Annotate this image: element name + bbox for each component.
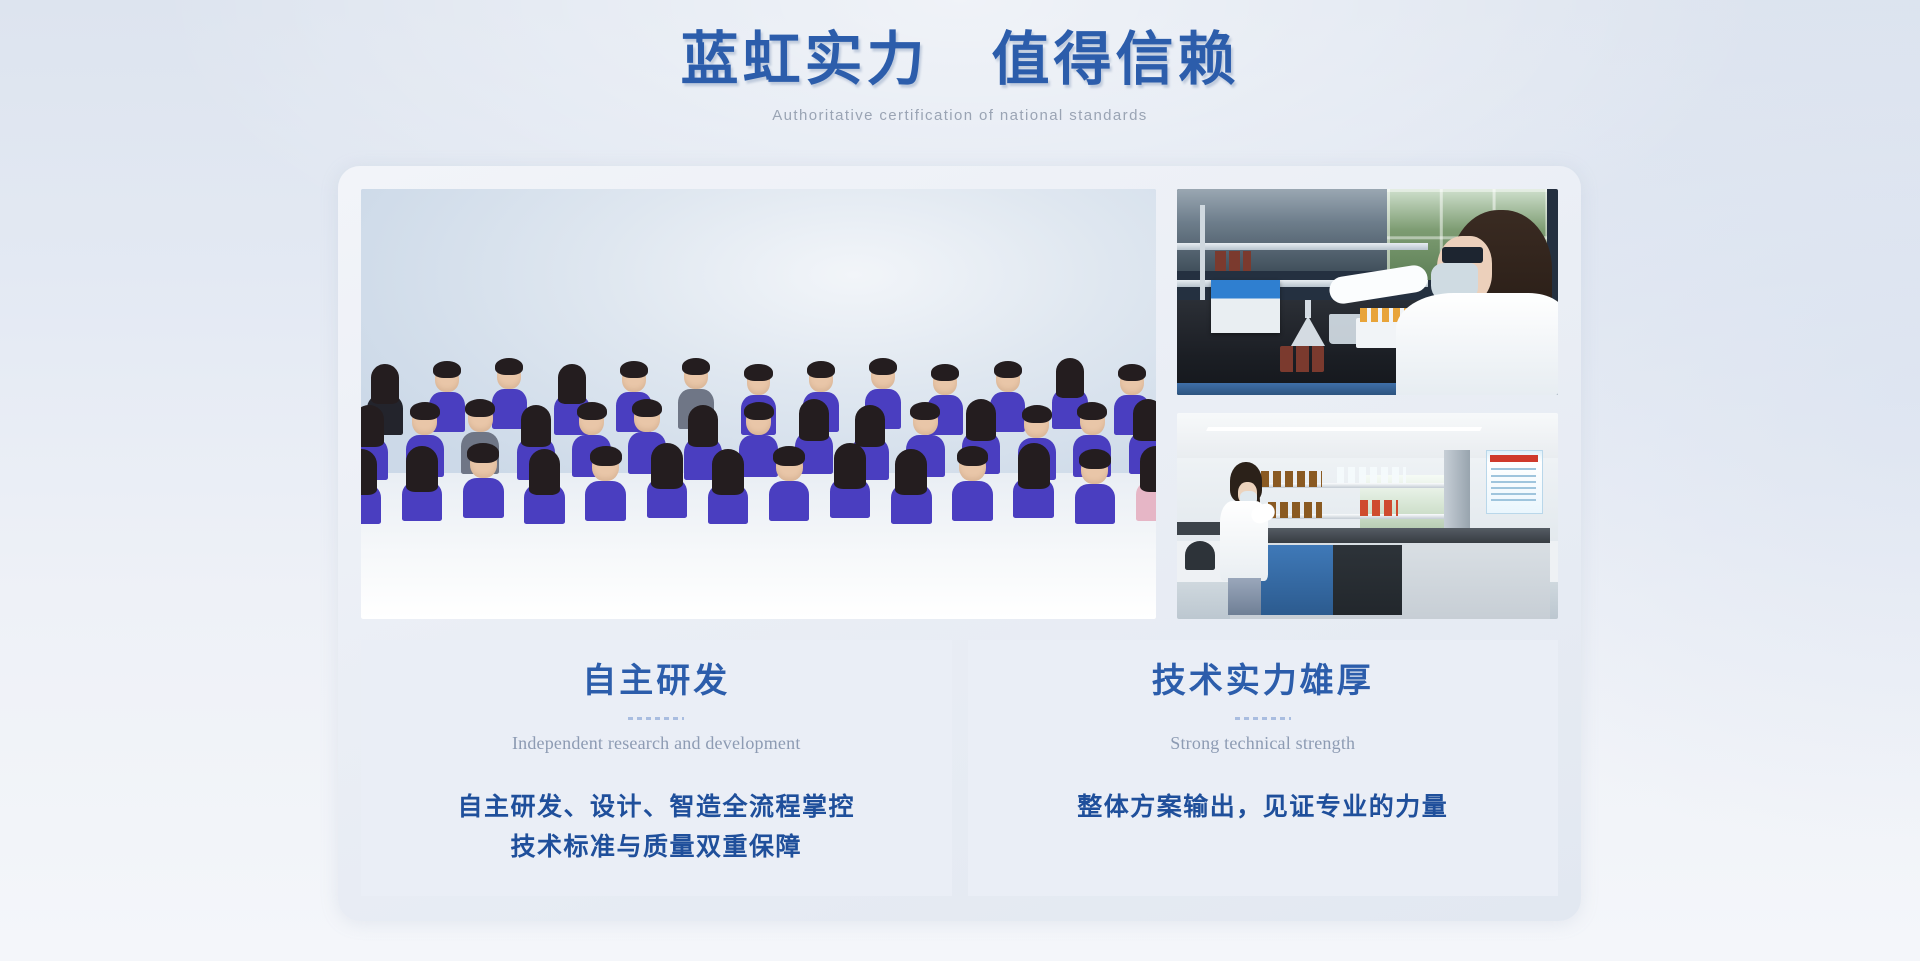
person-hair (632, 399, 662, 417)
person-hair (467, 443, 499, 462)
person-hair (521, 405, 551, 448)
person-hair (966, 399, 996, 442)
person-head (468, 403, 493, 431)
poster-text-line (1491, 493, 1536, 495)
person-head (435, 365, 459, 392)
person-head (857, 409, 882, 437)
person-uniform (463, 478, 504, 518)
card-subtitle: Independent research and development (381, 733, 932, 754)
person-head (837, 448, 864, 478)
lab-reagent-bottles-lower (1280, 346, 1324, 372)
person-hair (410, 402, 440, 420)
poster-header-bar (1490, 455, 1539, 462)
reagent-bottles-red (1360, 500, 1398, 516)
person-hair (869, 358, 897, 375)
person-hair (744, 364, 772, 381)
card-subtitle: Strong technical strength (988, 733, 1539, 754)
person-head (373, 368, 397, 395)
safety-notice-poster (1486, 450, 1543, 514)
pipette-rack-icon (1211, 280, 1280, 334)
person-hair (688, 405, 718, 448)
group-photo-person (1058, 362, 1082, 429)
card-title: 技术实力雄厚 (988, 662, 1539, 703)
group-photo-person (898, 454, 925, 524)
person-hair (855, 405, 885, 448)
worker-legs (1228, 578, 1261, 615)
page-title-part-2: 值得信赖 (992, 27, 1240, 92)
group-photo-person (435, 365, 459, 432)
person-head (412, 406, 437, 434)
group-photo-person (959, 451, 986, 521)
lab-coat (1396, 293, 1558, 395)
page-title: 蓝虹实力 值得信赖 (0, 24, 1920, 97)
person-head (470, 448, 497, 478)
person-head (1024, 409, 1049, 437)
feature-card-technical-strength[interactable]: 技术实力雄厚 Strong technical strength 整体方案输出，… (968, 640, 1559, 896)
person-hair (994, 361, 1022, 378)
person-hair (577, 402, 607, 420)
group-photo-person (746, 406, 771, 476)
lab-reagent-bottles-upper (1215, 251, 1251, 271)
card-divider (628, 717, 684, 720)
person-head (801, 403, 826, 431)
person-head (746, 406, 771, 434)
person-head (690, 409, 715, 437)
person-head (560, 368, 584, 395)
lab-stand-pole (1200, 205, 1205, 312)
page-subtitle: Authoritative certification of national … (0, 107, 1920, 124)
media-grid (361, 189, 1558, 619)
person-hair (361, 449, 377, 494)
person-uniform (585, 481, 626, 521)
person-head (933, 368, 957, 395)
person-head (523, 409, 548, 437)
person-hair (1140, 446, 1156, 491)
card-body-line: 技术标准与质量双重保障 (381, 828, 932, 869)
group-photo-person (409, 451, 436, 521)
person-hair (799, 399, 829, 442)
person-hair (895, 449, 927, 494)
person-hair (433, 361, 461, 378)
person-head (714, 454, 741, 484)
group-photo-person (470, 448, 497, 518)
group-photo-person (531, 454, 558, 524)
group-photo-person (1081, 454, 1108, 524)
person-hair (620, 361, 648, 378)
group-photo-person (653, 448, 680, 518)
person-hair (590, 446, 622, 465)
person-head (809, 365, 833, 392)
page-header: 蓝虹实力 值得信赖 Authoritative certification of… (0, 24, 1920, 124)
person-head (996, 365, 1020, 392)
lab-island-dark-drawers (1333, 545, 1402, 615)
person-head (1081, 454, 1108, 484)
card-body: 自主研发、设计、智造全流程掌控 技术标准与质量双重保障 (381, 788, 932, 869)
card-divider (1235, 717, 1291, 720)
person-head (898, 454, 925, 484)
poster-text-line (1491, 499, 1536, 501)
person-hair (773, 446, 805, 465)
person-head (622, 365, 646, 392)
group-photo-people (361, 275, 1156, 524)
group-photo-person (1020, 448, 1047, 518)
person-head (1058, 362, 1082, 389)
lab-stool (1185, 541, 1215, 570)
person-hair (834, 443, 866, 488)
person-hair (744, 402, 774, 420)
group-photo-person (592, 451, 619, 521)
group-photo-person (361, 454, 375, 524)
person-hair (910, 402, 940, 420)
person-head (1143, 451, 1157, 481)
person-head (959, 451, 986, 481)
person-head (361, 454, 375, 484)
person-hair (1018, 443, 1050, 488)
person-hair (807, 361, 835, 378)
person-hair (361, 405, 384, 448)
content-panel: 自主研发 Independent research and developmen… (338, 166, 1581, 921)
person-head (1080, 406, 1105, 434)
page-stage: 蓝虹实力 值得信赖 Authoritative certification of… (0, 0, 1920, 961)
card-body: 整体方案输出，见证专业的力量 (988, 788, 1539, 829)
person-head (1135, 403, 1156, 431)
person-hair (1056, 358, 1084, 398)
person-head (653, 448, 680, 478)
person-uniform (769, 481, 810, 521)
person-head (684, 362, 708, 389)
person-hair (371, 364, 399, 404)
person-head (1020, 448, 1047, 478)
person-head (592, 451, 619, 481)
poster-text-line (1491, 481, 1536, 483)
group-photo-person (1143, 451, 1157, 521)
group-photo-person (714, 454, 741, 524)
card-title: 自主研发 (381, 662, 932, 703)
person-hair (712, 449, 744, 494)
feature-cards: 自主研发 Independent research and developmen… (361, 640, 1558, 896)
glassware-row (1337, 467, 1406, 483)
group-photo-person (837, 448, 864, 518)
volumetric-flask-icon (1291, 316, 1325, 346)
person-hair (465, 399, 495, 417)
person-head (968, 403, 993, 431)
card-body-line: 自主研发、设计、智造全流程掌控 (381, 788, 932, 829)
person-hair (406, 446, 438, 491)
lab-room-worker-figure (1215, 462, 1272, 614)
person-hair (1022, 405, 1052, 423)
person-head (634, 403, 659, 431)
person-head (776, 451, 803, 481)
person-hair (1077, 402, 1107, 420)
poster-text-line (1491, 487, 1536, 489)
person-hair (529, 449, 561, 494)
group-photo-person (801, 403, 826, 473)
side-photo-column (1177, 189, 1558, 619)
poster-text-line (1491, 468, 1536, 470)
person-head (409, 451, 436, 481)
page-title-part-1: 蓝虹实力 (680, 27, 928, 92)
person-hair (1118, 364, 1146, 381)
person-head (1120, 368, 1144, 395)
person-hair (651, 443, 683, 488)
group-photo-person (996, 365, 1020, 432)
group-photo-person (497, 362, 521, 429)
group-photo-person (776, 451, 803, 521)
person-head (497, 362, 521, 389)
lab-shelf-rail-upper (1177, 243, 1428, 250)
person-head (531, 454, 558, 484)
reagent-bottles-amber (1268, 502, 1321, 518)
person-head (871, 362, 895, 389)
person-head (361, 409, 382, 437)
safety-glasses-icon (1442, 247, 1483, 262)
lab-room-photo[interactable] (1177, 413, 1558, 619)
person-hair (558, 364, 586, 404)
feature-card-independent-rd[interactable]: 自主研发 Independent research and developmen… (361, 640, 952, 896)
person-head (579, 406, 604, 434)
poster-text-line (1491, 475, 1536, 477)
person-head (913, 406, 938, 434)
person-hair (682, 358, 710, 375)
person-hair (495, 358, 523, 375)
lab-technician-figure (1428, 210, 1558, 395)
team-group-photo[interactable] (361, 189, 1156, 619)
person-hair (957, 446, 989, 465)
person-uniform (739, 435, 777, 477)
lab-back-wall (1177, 189, 1413, 271)
person-head (747, 368, 771, 395)
person-hair (1079, 449, 1111, 468)
lab-technician-photo[interactable] (1177, 189, 1558, 395)
card-body-line: 整体方案输出，见证专业的力量 (988, 788, 1539, 829)
person-hair (1133, 399, 1156, 442)
person-hair (931, 364, 959, 381)
person-uniform (1075, 484, 1116, 524)
person-uniform (952, 481, 993, 521)
